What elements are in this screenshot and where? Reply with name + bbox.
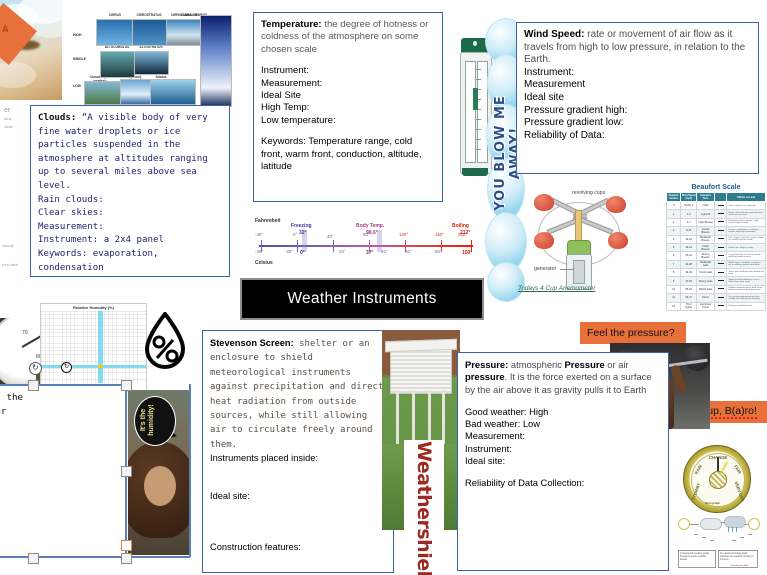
pressure-line-2: Measurement: bbox=[465, 430, 525, 441]
beaufort-symbol-icon bbox=[715, 227, 727, 235]
beaufort-number: 8 bbox=[667, 269, 681, 277]
beaufort-col-2: Seaman's Term bbox=[697, 193, 715, 202]
scale-label-fahrenheit: Fahrenheit bbox=[255, 218, 281, 224]
beaufort-row: 625-31Strong BreezeLarge branches of tre… bbox=[667, 252, 766, 260]
beaufort-effect: Seldom experienced on land; trees broken… bbox=[727, 285, 766, 293]
beaufort-symbol-icon bbox=[715, 235, 727, 243]
beaufort-effect: Twigs and small branches broken off tree… bbox=[727, 269, 766, 277]
slide-canvas: A er nths clear cloudy rom view HIGH MID… bbox=[0, 0, 767, 575]
beaufort-number: 0 bbox=[667, 202, 681, 210]
cloud-caption-cirrostratus: CIRROSTRATUS bbox=[132, 13, 166, 17]
scale-f-tick-1: 0° bbox=[293, 232, 297, 237]
rotate-handle-icon[interactable]: ↻ bbox=[29, 362, 42, 375]
faint-caption-3: clear bbox=[4, 124, 13, 129]
scale-f-tick-5: 160° bbox=[435, 232, 444, 237]
humidity-box-body: : Humidity is the f water vapour n the a… bbox=[0, 386, 125, 546]
beaufort-speed: 73 or higher bbox=[681, 302, 697, 310]
rotate-cursor-icon: ↻ bbox=[61, 362, 72, 373]
beaufort-term: Strong Gale bbox=[697, 277, 715, 285]
beaufort-effect: Large branches of trees in motion; whist… bbox=[727, 252, 766, 260]
wx-note-left: A downward trending graph threatens wors… bbox=[678, 550, 716, 568]
beaufort-symbol-icon bbox=[715, 202, 727, 210]
feel-the-pressure-text: Feel the pressure? bbox=[587, 327, 675, 339]
beaufort-speed: 8-12 bbox=[681, 227, 697, 235]
beaufort-symbol-icon bbox=[715, 277, 727, 285]
scale-marker-body-f: 98.6° bbox=[366, 230, 378, 236]
temperature-keywords: Keywords: Temperature range, cold front,… bbox=[261, 136, 422, 172]
scale-c-tick-0: -40° bbox=[255, 249, 263, 254]
pressure-line-5: Reliability of Data Collection: bbox=[465, 477, 584, 488]
scale-label-celsius: Celsius bbox=[255, 260, 273, 266]
wind-line-3: Pressure gradient high: bbox=[524, 105, 627, 116]
beaufort-row: 732-38Moderate GaleWhole trees in motion… bbox=[667, 260, 766, 268]
beaufort-title: Beaufort Scale bbox=[666, 183, 766, 192]
beaufort-symbol-icon bbox=[715, 260, 727, 268]
pressure-def-d: pressure bbox=[465, 371, 505, 382]
clouds-definition: “A visible body of very fine water dropl… bbox=[38, 113, 208, 191]
temperature-line-4: Low temperature: bbox=[261, 115, 336, 126]
scale-marker-boiling-name: Boiling bbox=[452, 223, 469, 229]
beaufort-term: Hurricane Force bbox=[697, 302, 715, 310]
beaufort-row: 11-3Light AirSmoke drift indicates wind … bbox=[667, 210, 766, 218]
temperature-term: Temperature: bbox=[261, 19, 322, 30]
selection-handle-bottom-right-active[interactable] bbox=[121, 540, 132, 551]
temperature-line-1: Measurement: bbox=[261, 78, 322, 89]
pressure-box-body: Pressure: atmospheric Pressure or air pr… bbox=[458, 353, 668, 496]
beaufort-symbol-icon bbox=[715, 285, 727, 293]
beaufort-number: 3 bbox=[667, 227, 681, 235]
scale-c-tick-1: -20° bbox=[285, 249, 293, 254]
beaufort-number: 4 bbox=[667, 235, 681, 243]
clouds-line-3: Instrument: a 2x4 panel bbox=[38, 235, 164, 245]
beaufort-number: 1 bbox=[667, 210, 681, 218]
pressure-line-4: Ideal site: bbox=[465, 455, 505, 466]
beaufort-symbol-icon bbox=[715, 302, 727, 310]
clouds-line-0: Rain clouds: bbox=[38, 195, 104, 205]
beaufort-row: 413-18Moderate BreezeDust, leaves and lo… bbox=[667, 235, 766, 243]
beaufort-number: 11 bbox=[667, 294, 681, 302]
wind-box-body: Wind Speed: rate or movement of air flow… bbox=[517, 23, 758, 148]
clouds-box-body: Clouds: “A visible body of very fine wat… bbox=[31, 106, 229, 281]
beaufort-term: Whole Gale bbox=[697, 285, 715, 293]
temperature-scale-image: Fahrenheit Celsius -40° 0° 40° 80° 120° … bbox=[253, 218, 481, 268]
temperature-line-3: High Temp: bbox=[261, 102, 309, 113]
cloud-caption-cirrus: CIRRUS bbox=[98, 13, 132, 17]
beaufort-effect: Slight structural damage occurs; slate b… bbox=[727, 277, 766, 285]
anemometer-cups-label: revolving cups bbox=[572, 190, 605, 196]
wind-line-0: Instrument: bbox=[524, 67, 574, 78]
humidity-droplet-icon bbox=[143, 312, 187, 372]
selection-handle-middle-right[interactable] bbox=[121, 466, 132, 477]
cloud-row-label-high: HIGH bbox=[73, 33, 81, 37]
beaufort-term: Strong Breeze bbox=[697, 252, 715, 260]
beaufort-effect: Dust, leaves and loose paper raised up; … bbox=[727, 235, 766, 243]
beaufort-term: Fresh Gale bbox=[697, 269, 715, 277]
beaufort-number: 9 bbox=[667, 277, 681, 285]
wx-credit: *Simplified for FAQ bbox=[730, 565, 748, 567]
weathershield-text: Weathershield bbox=[413, 441, 435, 569]
feel-the-pressure-banner[interactable]: Feel the pressure? bbox=[580, 322, 686, 344]
beaufort-row: 38-12Gentle BreezeLeaves, small twigs in… bbox=[667, 227, 766, 235]
slide-title-bar[interactable]: Weather Instruments bbox=[240, 278, 484, 320]
scale-f-tick-0: -40° bbox=[255, 232, 263, 237]
pressure-line-1: Bad weather: Low bbox=[465, 418, 540, 429]
humidity-person-image: It's the humidity! bbox=[128, 390, 190, 555]
beaufort-effect: Very rarely experienced on land; usually… bbox=[727, 294, 766, 302]
beaufort-symbol-icon bbox=[715, 252, 727, 260]
faint-caption-2: nths bbox=[4, 116, 12, 121]
beaufort-row: 1164-72StormVery rarely experienced on l… bbox=[667, 294, 766, 302]
scale-c-tick-4: 60° bbox=[405, 249, 412, 254]
beaufort-effect: Smoke drift indicates wind direction; va… bbox=[727, 210, 766, 218]
temperature-line-2: Ideal Site bbox=[261, 90, 301, 101]
beaufort-speed: 25-31 bbox=[681, 252, 697, 260]
beaufort-effect: Wind felt on face; leaves rustle; vanes … bbox=[727, 218, 766, 226]
weathershield-logo: Weathershield bbox=[404, 440, 444, 568]
stevenson-screen-text-box[interactable]: Stevenson Screen: shelter or an enclosur… bbox=[202, 330, 394, 573]
beaufort-scale-table-image: Beaufort Scale Beaufort number Wind Spee… bbox=[666, 183, 766, 306]
beaufort-row: 0Under 1CalmCalm; smoke rises vertically bbox=[667, 202, 766, 210]
beaufort-number: 7 bbox=[667, 260, 681, 268]
beaufort-symbol-icon bbox=[715, 269, 727, 277]
selection-edge-right-2 bbox=[189, 384, 191, 557]
wind-speed-text-box[interactable]: Wind Speed: rate or movement of air flow… bbox=[516, 22, 759, 174]
temperature-box-body: Temperature: the degree of hotness or co… bbox=[254, 13, 442, 179]
selection-handle-bottom-corner[interactable] bbox=[121, 553, 132, 564]
beaufort-speed: 4-7 bbox=[681, 218, 697, 226]
wind-term: Wind Speed: bbox=[524, 29, 584, 40]
anemometer-caption: Todays 4 Cup Anemometer bbox=[518, 285, 595, 292]
stevenson-line-0: Instruments placed inside: bbox=[210, 453, 318, 463]
anemometer-generator-label: generator bbox=[534, 266, 556, 272]
selection-handle-top-center[interactable] bbox=[28, 380, 39, 391]
beaufort-speed: 19-24 bbox=[681, 243, 697, 251]
temperature-line-0: Instrument: bbox=[261, 65, 309, 76]
beaufort-number: 5 bbox=[667, 243, 681, 251]
beaufort-number: 6 bbox=[667, 252, 681, 260]
beaufort-col-4: Effects on Land bbox=[727, 193, 766, 202]
beaufort-col-3 bbox=[715, 193, 727, 202]
clouds-line-4: Keywords: evaporation, condensation bbox=[38, 249, 158, 273]
pressure-def-c: or air bbox=[605, 359, 629, 370]
scale-marker-body-c: 37° bbox=[366, 250, 374, 256]
stevenson-box-body: Stevenson Screen: shelter or an enclosur… bbox=[203, 331, 393, 561]
stevenson-line-2: Construction features: bbox=[210, 542, 301, 552]
beaufort-term: Light Air bbox=[697, 210, 715, 218]
cloud-row-label-low: LOW bbox=[73, 84, 81, 88]
beaufort-row: 839-46Fresh GaleTwigs and small branches… bbox=[667, 269, 766, 277]
cloud-types-chart-image: HIGH MIDDLE LOW CIRRUS CIRROSTRATUS CIRR… bbox=[72, 7, 213, 107]
beaufort-term: Moderate Gale bbox=[697, 260, 715, 268]
beaufort-row: 947-54Strong GaleSlight structural damag… bbox=[667, 277, 766, 285]
beaufort-term: Gentle Breeze bbox=[697, 227, 715, 235]
beaufort-number: 2 bbox=[667, 218, 681, 226]
wind-line-1: Measurement bbox=[524, 79, 585, 90]
clouds-line-2: Measurement: bbox=[38, 222, 104, 232]
selection-edge-top bbox=[0, 384, 126, 386]
pressure-term: Pressure: bbox=[465, 359, 508, 370]
beaufort-term: Light Breeze bbox=[697, 218, 715, 226]
beaufort-effect: Calm; smoke rises vertically bbox=[727, 202, 766, 210]
scale-f-tick-2: 40° bbox=[327, 234, 334, 239]
beaufort-speed: Under 1 bbox=[681, 202, 697, 210]
barometer-subtext: Barograph bbox=[705, 501, 720, 505]
pressure-line-3: Instrument: bbox=[465, 443, 512, 454]
weather-trend-diagram: A downward trending graph threatens wors… bbox=[676, 512, 760, 570]
beaufort-term: Fresh Breeze bbox=[697, 243, 715, 251]
beaufort-row: 1273 or higherHurricane ForceViolence an… bbox=[667, 302, 766, 310]
beaufort-row: 1055-63Whole GaleSeldom experienced on l… bbox=[667, 285, 766, 293]
beaufort-speed: 55-63 bbox=[681, 285, 697, 293]
stevenson-definition: shelter or an enclosure to shield meteor… bbox=[210, 339, 383, 450]
pressure-line-0: Good weather: High bbox=[465, 406, 548, 417]
wind-line-2: Ideal site bbox=[524, 92, 564, 103]
scale-c-tick-3: 40° bbox=[381, 249, 388, 254]
beaufort-symbol-icon bbox=[715, 218, 727, 226]
beaufort-term: Moderate Breeze bbox=[697, 235, 715, 243]
relative-humidity-table-image: Relative Humidity (%) ↻ bbox=[40, 303, 147, 392]
beaufort-effect: Violence and destruction bbox=[727, 302, 766, 310]
beaufort-effect: Whole trees in motion; resistance felt i… bbox=[727, 260, 766, 268]
slide-title: Weather Instruments bbox=[287, 290, 436, 308]
scale-marker-freezing-f: 32° bbox=[299, 230, 307, 236]
humidity-line-1: f water vapour bbox=[0, 406, 6, 417]
beaufort-col-0: Beaufort number bbox=[667, 193, 681, 202]
wind-line-4: Pressure gradient low: bbox=[524, 117, 624, 128]
wind-line-5: Reliability of Data: bbox=[524, 130, 605, 141]
beaufort-speed: 32-38 bbox=[681, 260, 697, 268]
beaufort-speed: 1-3 bbox=[681, 210, 697, 218]
stevenson-line-1: Ideal site: bbox=[210, 491, 250, 501]
scale-marker-body-name: Body Temp. bbox=[356, 223, 384, 229]
stevenson-term: Stevenson Screen: bbox=[210, 338, 294, 348]
pressure-def-b: Pressure bbox=[565, 359, 605, 370]
humidity-text-box[interactable]: : Humidity is the f water vapour n the a… bbox=[0, 385, 126, 557]
scale-marker-boiling-c: 100° bbox=[462, 250, 472, 256]
scale-marker-boiling-f: 212° bbox=[460, 230, 470, 236]
scale-marker-freezing-c: 0° bbox=[300, 250, 305, 256]
rh-table-title: Relative Humidity (%) bbox=[41, 304, 146, 311]
scale-marker-freezing-name: Freezing bbox=[291, 223, 312, 229]
scale-c-tick-2: 20° bbox=[339, 249, 346, 254]
humidity-line-0: : Humidity is the bbox=[0, 392, 23, 403]
selection-handle-top-right[interactable] bbox=[121, 380, 132, 391]
clouds-line-1: Clear skies: bbox=[38, 208, 104, 218]
clouds-text-box[interactable]: Clouds: “A visible body of very fine wat… bbox=[30, 105, 230, 277]
barometer-dial-image: CHANGE RAIN FAIR STORMY VERY DRY Barogra… bbox=[683, 445, 751, 513]
beaufort-term: Calm bbox=[697, 202, 715, 210]
beaufort-symbol-icon bbox=[715, 243, 727, 251]
pressure-def-a: atmospheric bbox=[508, 359, 564, 370]
beaufort-effect: Leaves, small twigs in constant motion; … bbox=[727, 227, 766, 235]
beaufort-effect: Small trees begin to sway bbox=[727, 243, 766, 251]
humidity-speech-text: It's the humidity! bbox=[140, 394, 156, 446]
pressure-text-box[interactable]: Pressure: atmospheric Pressure or air pr… bbox=[457, 352, 669, 571]
beaufort-number: 12 bbox=[667, 302, 681, 310]
beaufort-speed: 13-18 bbox=[681, 235, 697, 243]
beaufort-table: Beaufort number Wind Speed (mph) Seaman'… bbox=[666, 192, 766, 311]
beaufort-speed: 47-54 bbox=[681, 277, 697, 285]
scale-f-tick-4: 120° bbox=[399, 232, 408, 237]
beaufort-symbol-icon bbox=[715, 294, 727, 302]
cloud-row-label-middle: MIDDLE bbox=[73, 57, 86, 61]
beaufort-symbol-icon bbox=[715, 210, 727, 218]
beaufort-col-1: Wind Speed (mph) bbox=[681, 193, 697, 202]
beaufort-term: Storm bbox=[697, 294, 715, 302]
beaufort-speed: 39-46 bbox=[681, 269, 697, 277]
temperature-text-box[interactable]: Temperature: the degree of hotness or co… bbox=[253, 12, 443, 202]
selection-handle-bottom-center[interactable] bbox=[28, 553, 39, 564]
beaufort-speed: 64-72 bbox=[681, 294, 697, 302]
beaufort-header-row: Beaufort number Wind Speed (mph) Seaman'… bbox=[667, 193, 766, 202]
beaufort-row: 24-7Light BreezeWind felt on face; leave… bbox=[667, 218, 766, 226]
faint-caption-5: rom view bbox=[2, 262, 18, 267]
cloud-artwork-image: A bbox=[0, 0, 62, 100]
beaufort-number: 10 bbox=[667, 285, 681, 293]
clouds-term: Clouds: bbox=[38, 113, 76, 123]
faint-caption-1: er bbox=[4, 107, 10, 114]
faint-caption-4: cloudy bbox=[2, 243, 14, 248]
beaufort-row: 519-24Fresh BreezeSmall trees begin to s… bbox=[667, 243, 766, 251]
scale-c-tick-5: 80° bbox=[435, 249, 442, 254]
anemometer-diagram-image: revolving cups generator bbox=[520, 188, 638, 298]
